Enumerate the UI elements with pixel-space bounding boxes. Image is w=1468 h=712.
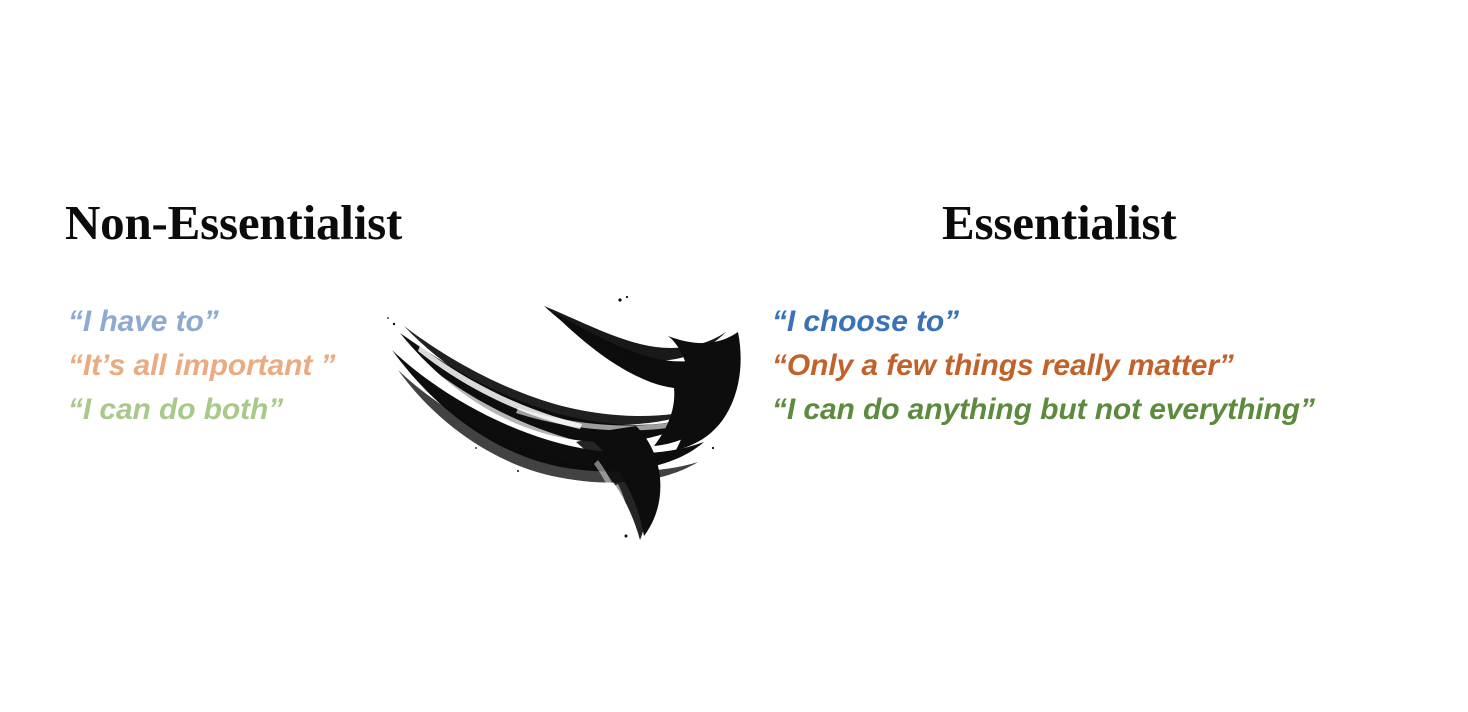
quote-list-essentialist: “I choose to” “Only a few things really …: [772, 300, 1315, 432]
quote-line: “I choose to”: [772, 300, 1315, 344]
quote-line: “I can do both”: [68, 388, 335, 432]
quote-line: “I have to”: [68, 300, 335, 344]
brush-stroke-arrow-icon: [368, 288, 758, 543]
quote-line: “I can do anything but not everything”: [772, 388, 1315, 432]
slide-canvas: Non-Essentialist Essentialist “I have to…: [0, 0, 1468, 712]
quote-line: “It’s all important ”: [68, 344, 335, 388]
heading-essentialist: Essentialist: [942, 198, 1176, 247]
quote-list-non-essentialist: “I have to” “It’s all important ” “I can…: [68, 300, 335, 432]
quote-line: “Only a few things really matter”: [772, 344, 1315, 388]
heading-non-essentialist: Non-Essentialist: [65, 198, 402, 247]
